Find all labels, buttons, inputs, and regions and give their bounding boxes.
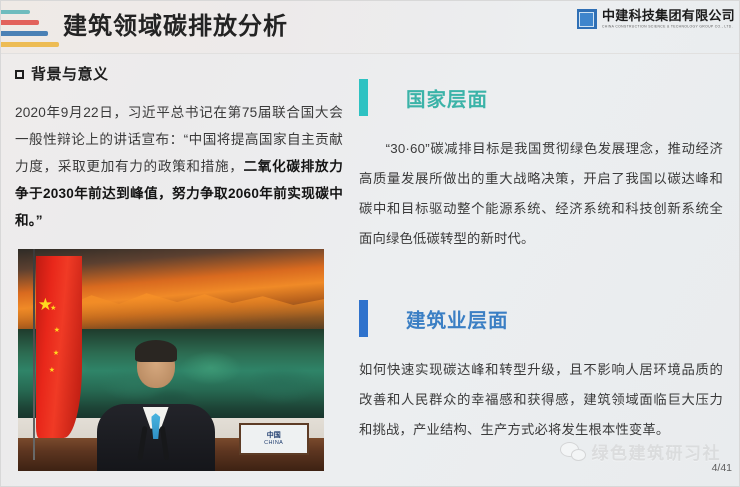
section-heading-background: 背景与意义 [15, 63, 343, 84]
accent-bar-blue [359, 300, 368, 337]
speaker-hair [135, 340, 177, 362]
construction-level-paragraph: 如何快速实现碳达峰和转型升级，且不影响人居环境品质的改善和人民群众的幸福感和获得… [359, 355, 723, 445]
slide-header: 建筑领域碳排放分析 中建科技集团有限公司 CHINA CONSTRUCTION … [1, 1, 740, 54]
accent-title-national: 国家层面 [406, 83, 488, 112]
flag-star-small: ★ [54, 327, 60, 334]
accent-heading-national: 国家层面 [359, 79, 723, 116]
national-level-paragraph: “30·60”碳减排目标是我国贯彻绿色发展理念，推动经济高质量发展所做出的重大战… [359, 134, 723, 254]
china-flag-icon: ★ ★ ★ ★ ★ [36, 256, 82, 438]
flag-star-small: ★ [53, 350, 59, 357]
company-logo: 中建科技集团有限公司 CHINA CONSTRUCTION SCIENCE & … [577, 7, 735, 31]
country-nameplate: 中国 CHINA [239, 423, 309, 455]
deco-bar-teal [1, 10, 30, 14]
page-number: 4/41 [712, 462, 732, 474]
company-name-en: CHINA CONSTRUCTION SCIENCE & TECHNOLOGY … [602, 23, 735, 30]
left-column: 背景与意义 2020年9月22日，习近平总书记在第75届联合国大会一般性辩论上的… [15, 63, 343, 248]
accent-heading-construction: 建筑业层面 [359, 300, 723, 337]
nameplate-label-cn: 中国 [267, 432, 281, 439]
header-divider [1, 53, 740, 54]
nameplate-label-en: CHINA [264, 441, 283, 447]
company-name-cn: 中建科技集团有限公司 [602, 9, 735, 23]
deco-bar-yellow [1, 42, 59, 47]
block-spacer [359, 254, 723, 300]
logo-text-wrap: 中建科技集团有限公司 CHINA CONSTRUCTION SCIENCE & … [602, 9, 735, 29]
flag-star-small: ★ [50, 305, 56, 312]
speech-photo: ★ ★ ★ ★ ★ 中国 CHINA [18, 249, 324, 471]
page-title: 建筑领域碳排放分析 [63, 10, 288, 44]
logo-mark-inner [579, 12, 594, 27]
section-heading-label: 背景与意义 [31, 63, 109, 84]
right-column: 国家层面 “30·60”碳减排目标是我国贯彻绿色发展理念，推动经济高质量发展所做… [359, 79, 723, 445]
slide-container: 建筑领域碳排放分析 中建科技集团有限公司 CHINA CONSTRUCTION … [0, 0, 740, 487]
wechat-bubble-small [571, 449, 586, 461]
flag-pole [33, 249, 35, 460]
building-logo-icon [577, 9, 597, 29]
deco-bar-blue [1, 31, 48, 36]
accent-bar-teal [359, 79, 368, 116]
flag-star-small: ★ [49, 367, 55, 374]
deco-bar-red [1, 20, 39, 25]
accent-title-construction: 建筑业层面 [406, 304, 509, 333]
hollow-square-bullet-icon [15, 70, 24, 79]
decorative-bars [1, 10, 61, 50]
background-paragraph: 2020年9月22日，习近平总书记在第75届联合国大会一般性辩论上的讲话宣布：“… [15, 99, 343, 234]
background-paragraph-suffix: ” [36, 213, 43, 228]
